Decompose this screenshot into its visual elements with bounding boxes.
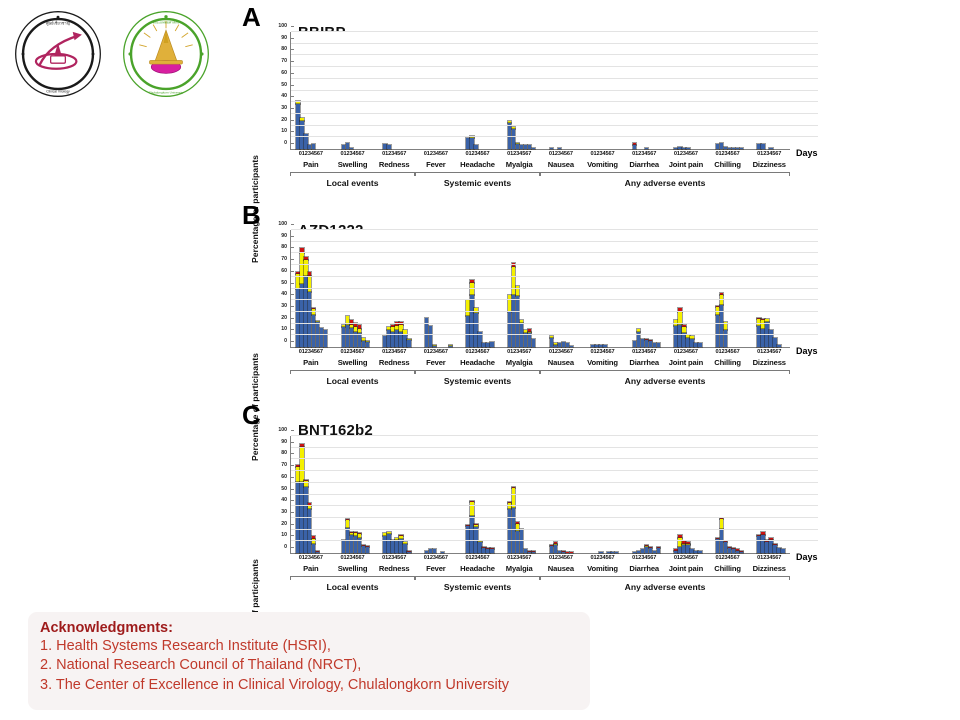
bar [611, 552, 614, 553]
bar [300, 444, 303, 553]
bar [429, 326, 432, 347]
x-axis-symptoms-a: PainSwellingRednessFeverHeadacheMyalgiaN… [290, 160, 790, 169]
bar-segment-mild [607, 552, 610, 553]
bar-segment-mild [599, 552, 602, 553]
bar [532, 551, 535, 553]
bar [736, 549, 739, 553]
bar-segment-mild [342, 540, 345, 553]
bar [686, 335, 689, 347]
bar [566, 343, 569, 347]
bar [558, 148, 561, 149]
bar-segment-mild [682, 545, 685, 553]
y-axis-tick: 100 [278, 221, 291, 227]
day-tick-labels: 01234567 [748, 151, 790, 157]
category-brackets-b: Local eventsSystemic eventsAny adverse e… [290, 370, 790, 392]
gridline [291, 334, 818, 335]
bar-segment-mild [732, 549, 735, 553]
bracket-line [540, 576, 790, 577]
bar-group [416, 436, 458, 553]
bar-segment-mild [383, 336, 386, 347]
bar [470, 280, 473, 347]
bar [720, 518, 723, 553]
bar [470, 136, 473, 149]
bar-segment-mild [649, 341, 652, 347]
x-axis-symptoms-b: PainSwellingRednessFeverHeadacheMyalgiaN… [290, 358, 790, 367]
plot-area-a: 0102030405060708090100 [290, 32, 790, 150]
bar-segment-mild [362, 546, 365, 553]
bar [391, 540, 394, 553]
bar-segment-mild [524, 549, 527, 553]
y-axis-tick: 10 [281, 326, 291, 332]
bar [470, 501, 473, 553]
symptom-label: Joint pain [665, 160, 707, 169]
symptom-label: Pain [290, 160, 332, 169]
gridline [291, 43, 818, 44]
bar-segment-mild [470, 138, 473, 149]
bar-group [624, 32, 666, 149]
symptom-label: Joint pain [665, 358, 707, 367]
bar-segment-mild [342, 145, 345, 149]
bar-segment-mild [296, 104, 299, 149]
bar-groups-c [291, 436, 790, 553]
gridline [291, 125, 818, 126]
category-brackets-a: Local eventsSystemic eventsAny adverse e… [290, 172, 790, 194]
bar-segment-mild [433, 549, 436, 553]
bar-segment-mild [694, 343, 697, 347]
symptom-label: Myalgia [498, 160, 540, 169]
bar [674, 148, 677, 149]
bar [736, 148, 739, 149]
day-tick-labels: 01234567 [498, 151, 540, 157]
bar [674, 549, 677, 553]
gridline [291, 540, 818, 541]
bar [682, 148, 685, 149]
bar-segment-mild [403, 335, 406, 347]
bracket-line [415, 370, 540, 371]
bar-group [374, 32, 416, 149]
bar [490, 342, 493, 347]
gridline [291, 470, 818, 471]
gridline [291, 323, 818, 324]
bar-segment-mild [686, 338, 689, 347]
bar [686, 148, 689, 149]
bar-segment-mild [512, 295, 515, 347]
bar-group [582, 436, 624, 553]
bar-segment-moderate [304, 260, 307, 277]
symptom-label: Chilling [707, 160, 749, 169]
bar [678, 147, 681, 149]
bar [478, 541, 481, 553]
bar [350, 532, 353, 553]
bar-segment-mild [736, 551, 739, 553]
bar [300, 118, 303, 149]
bar-segment-mild [470, 516, 473, 553]
x-axis-days-a: 0123456701234567012345670123456701234567… [290, 151, 790, 157]
y-axis-tick: 0 [284, 140, 291, 146]
bar [570, 552, 573, 553]
bar [425, 551, 428, 553]
bar-segment-mild [698, 343, 701, 347]
bar [358, 325, 361, 347]
bar [554, 542, 557, 553]
bar-segment-mild [686, 148, 689, 149]
bar [383, 144, 386, 149]
day-tick-labels: 01234567 [290, 555, 332, 561]
bar-segment-mild [716, 144, 719, 149]
bar [653, 551, 656, 553]
bar [550, 148, 553, 149]
bar [728, 148, 731, 149]
bar-segment-mild [678, 147, 681, 149]
bar-segment-mild [761, 329, 764, 347]
symptom-label: Nausea [540, 564, 582, 573]
y-axis-tick: 30 [281, 105, 291, 111]
y-axis-tick: 100 [278, 23, 291, 29]
y-axis-tick: 90 [281, 35, 291, 41]
bar-group [665, 436, 707, 553]
bar-segment-moderate [399, 325, 402, 332]
bracket-line [290, 370, 415, 371]
gridline [291, 113, 818, 114]
category-brackets-c: Local eventsSystemic eventsAny adverse e… [290, 576, 790, 598]
bar-segment-mild [657, 548, 660, 553]
gridline [291, 101, 818, 102]
bar-group [416, 32, 458, 149]
bar [732, 148, 735, 149]
bar-segment-mild [698, 551, 701, 553]
day-tick-labels: 01234567 [457, 349, 499, 355]
x-axis-title-b: Days [796, 346, 818, 356]
bar-segment-mild [633, 341, 636, 347]
svg-text:คณะแพทยศาสตร์: คณะแพทยศาสตร์ [153, 21, 180, 25]
bar-segment-mild [690, 549, 693, 553]
bar [346, 519, 349, 553]
bar-segment-mild [482, 548, 485, 553]
bar-segment-mild [674, 551, 677, 553]
bar-segment-mild [773, 338, 776, 347]
bar-group [457, 32, 499, 149]
bar-segment-mild [562, 552, 565, 553]
symptom-label: Joint pain [665, 564, 707, 573]
bar-segment-moderate [466, 300, 469, 317]
bar [653, 343, 656, 347]
bar-segment-mild [757, 144, 760, 149]
bar [562, 551, 565, 553]
y-axis-tick: 30 [281, 509, 291, 515]
bar-segment-severe [570, 552, 573, 553]
bracket-label: Local events [290, 376, 415, 386]
bar-segment-mild [346, 143, 349, 149]
bar [761, 144, 764, 149]
bar [516, 286, 519, 347]
bracket-label: Systemic events [415, 582, 540, 592]
bar-segment-mild [296, 289, 299, 347]
bar [366, 546, 369, 553]
bar [466, 138, 469, 149]
y-axis-tick: 20 [281, 315, 291, 321]
symptom-label: Vomiting [582, 358, 624, 367]
bar-group [333, 32, 375, 149]
day-tick-labels: 01234567 [582, 151, 624, 157]
bar [732, 548, 735, 553]
bar [441, 552, 444, 553]
y-axis-tick: 90 [281, 233, 291, 239]
bar-group [748, 436, 790, 553]
day-tick-labels: 01234567 [457, 555, 499, 561]
day-tick-labels: 01234567 [415, 555, 457, 561]
bar-segment-mild [516, 531, 519, 553]
bar [765, 540, 768, 553]
bar [641, 339, 644, 347]
bar-group [748, 32, 790, 149]
bar [698, 551, 701, 553]
symptom-label: Fever [415, 564, 457, 573]
bar-group [624, 436, 666, 553]
bar-segment-mild [407, 552, 410, 553]
bar-segment-mild [486, 343, 489, 347]
y-axis-tick: 0 [284, 338, 291, 344]
bar-segment-mild [554, 345, 557, 347]
bar [558, 343, 561, 347]
bar-segment-mild [478, 542, 481, 553]
bar [486, 343, 489, 347]
bar [637, 551, 640, 553]
y-axis-tick: 60 [281, 474, 291, 480]
bar [528, 329, 531, 347]
bar-segment-mild [466, 316, 469, 347]
bar-segment-mild [324, 330, 327, 347]
bar-segment-mild [777, 548, 780, 553]
bar [516, 522, 519, 553]
gridline [291, 435, 818, 436]
svg-text:Chulalongkorn University: Chulalongkorn University [149, 91, 184, 95]
y-axis-tick: 90 [281, 439, 291, 445]
bar [562, 342, 565, 347]
bar-segment-mild [362, 341, 365, 347]
gridline [291, 288, 818, 289]
bar-segment-mild [694, 551, 697, 553]
bar [637, 329, 640, 347]
day-tick-labels: 01234567 [457, 151, 499, 157]
day-tick-labels: 01234567 [415, 151, 457, 157]
day-tick-labels: 01234567 [498, 349, 540, 355]
bar [532, 148, 535, 149]
symptom-label: Dizziness [748, 358, 790, 367]
bar-segment-mild [558, 343, 561, 347]
bar [433, 345, 436, 347]
bar-segment-mild [470, 295, 473, 347]
bar [645, 339, 648, 347]
bar-segment-mild [532, 148, 535, 149]
bar-segment-mild [429, 549, 432, 553]
gridline [291, 31, 818, 32]
bar [686, 542, 689, 553]
y-axis-tick: 10 [281, 128, 291, 134]
bar [354, 532, 357, 553]
bar [615, 552, 618, 553]
bar [528, 551, 531, 553]
chart-panel-a: A BBIBP Percentage of participants mildm… [240, 2, 960, 202]
bar-segment-mild [769, 330, 772, 347]
bar [633, 341, 636, 347]
bar [724, 147, 727, 149]
bar [403, 330, 406, 347]
bar-segment-mild [482, 343, 485, 347]
bar [387, 532, 390, 553]
bar-group [457, 436, 499, 553]
day-tick-labels: 01234567 [748, 555, 790, 561]
bar-segment-mild [474, 313, 477, 347]
gridline [291, 447, 818, 448]
svg-text:Clinical Virology: Clinical Virology [46, 90, 70, 94]
bar [558, 551, 561, 553]
bar [316, 551, 319, 553]
bar-segment-mild [490, 342, 493, 347]
bar-segment-mild [641, 549, 644, 553]
bar-segment-mild [524, 145, 527, 149]
bar [773, 544, 776, 553]
bar-segment-mild [387, 145, 390, 149]
bar-segment-mild [391, 541, 394, 553]
bar [296, 272, 299, 348]
bar-group [499, 436, 541, 553]
bar-segment-mild [724, 542, 727, 553]
bracket-line [415, 172, 540, 173]
bar-segment-mild [486, 549, 489, 553]
bar [550, 336, 553, 347]
slide-canvas: ศูนย์เชี่ยวชาญ Clinical Virology คณะแพทย… [0, 0, 960, 720]
gridline [291, 78, 818, 79]
day-tick-labels: 01234567 [332, 151, 374, 157]
bar [678, 308, 681, 347]
bar-segment-mild [757, 536, 760, 553]
symptom-label: Myalgia [498, 358, 540, 367]
bar-segment-mild [769, 540, 772, 553]
day-tick-labels: 01234567 [665, 555, 707, 561]
y-axis-tick: 40 [281, 497, 291, 503]
x-axis-title-a: Days [796, 148, 818, 158]
bar [657, 547, 660, 553]
gridline [291, 264, 818, 265]
gridline [291, 252, 818, 253]
bar-group [499, 230, 541, 347]
bar [312, 144, 315, 149]
y-axis-tick: 70 [281, 58, 291, 64]
bar-group [416, 230, 458, 347]
bar [482, 547, 485, 553]
symptom-label: Redness [373, 358, 415, 367]
bar [550, 545, 553, 553]
bar-segment-mild [591, 345, 594, 347]
bar [342, 540, 345, 553]
day-tick-labels: 01234567 [707, 349, 749, 355]
bar [781, 549, 784, 553]
bar-segment-mild [716, 315, 719, 347]
symptom-label: Diarrhea [623, 564, 665, 573]
bar-group [291, 230, 333, 347]
bar [777, 548, 780, 553]
bar [429, 549, 432, 553]
symptom-label: Pain [290, 564, 332, 573]
bar-segment-mild [615, 552, 618, 553]
symptom-label: Chilling [707, 358, 749, 367]
day-tick-labels: 01234567 [748, 349, 790, 355]
bar-segment-mild [728, 148, 731, 149]
bar-segment-mild [724, 147, 727, 149]
bar-segment-mild [690, 339, 693, 347]
x-axis-days-c: 0123456701234567012345670123456701234567… [290, 555, 790, 561]
bar-segment-mild [761, 144, 764, 149]
acknowledgments-line: 2. National Research Council of Thailand… [40, 656, 578, 675]
bar-group [748, 230, 790, 347]
symptom-label: Chilling [707, 564, 749, 573]
bar [350, 148, 353, 149]
bar-group [457, 230, 499, 347]
bar-group [333, 436, 375, 553]
bar-segment-mild [773, 545, 776, 553]
bar-segment-mild [603, 345, 606, 347]
bar [570, 346, 573, 347]
bar-segment-mild [346, 325, 349, 347]
bar-segment-mild [562, 342, 565, 347]
bar [358, 533, 361, 553]
acknowledgments-box: Acknowledgments: 1. Health Systems Resea… [28, 612, 590, 710]
bar [524, 549, 527, 553]
symptom-label: Diarrhea [623, 358, 665, 367]
bar [603, 345, 606, 347]
bar [399, 535, 402, 553]
bar-segment-mild [316, 552, 319, 553]
bar-segment-moderate [346, 520, 349, 528]
bar-segment-mild [383, 536, 386, 553]
bar-segment-mild [649, 548, 652, 553]
bar-segment-moderate [470, 283, 473, 295]
bar-segment-moderate [512, 267, 515, 295]
bar [346, 143, 349, 149]
bar-segment-mild [769, 148, 772, 149]
bar [474, 145, 477, 149]
symptom-label: Myalgia [498, 564, 540, 573]
bar-segment-mild [633, 145, 636, 149]
bracket-label: Local events [290, 178, 415, 188]
bar [724, 541, 727, 553]
bar [320, 328, 323, 347]
symptom-label: Swelling [332, 160, 374, 169]
symptom-label: Headache [457, 160, 499, 169]
bracket-line [290, 576, 415, 577]
day-tick-labels: 01234567 [665, 349, 707, 355]
bar-segment-mild [350, 148, 353, 149]
bar-segment-mild [395, 330, 398, 347]
gridline [291, 136, 818, 137]
bar-segment-mild [312, 144, 315, 149]
bar [566, 552, 569, 553]
bar-segment-mild [633, 552, 636, 553]
bar-segment-mild [342, 327, 345, 347]
bar-segment-moderate [761, 320, 764, 329]
day-tick-labels: 01234567 [623, 349, 665, 355]
bar-segment-mild [466, 138, 469, 149]
bar-group [374, 230, 416, 347]
bracket-line [290, 172, 415, 173]
bar-segment-mild [550, 546, 553, 553]
bracket-label: Local events [290, 582, 415, 592]
bar-segment-mild [761, 535, 764, 553]
bar-segment-mild [320, 328, 323, 347]
bar-segment-mild [645, 148, 648, 149]
bar [554, 343, 557, 347]
x-axis-days-b: 0123456701234567012345670123456701234567… [290, 349, 790, 355]
